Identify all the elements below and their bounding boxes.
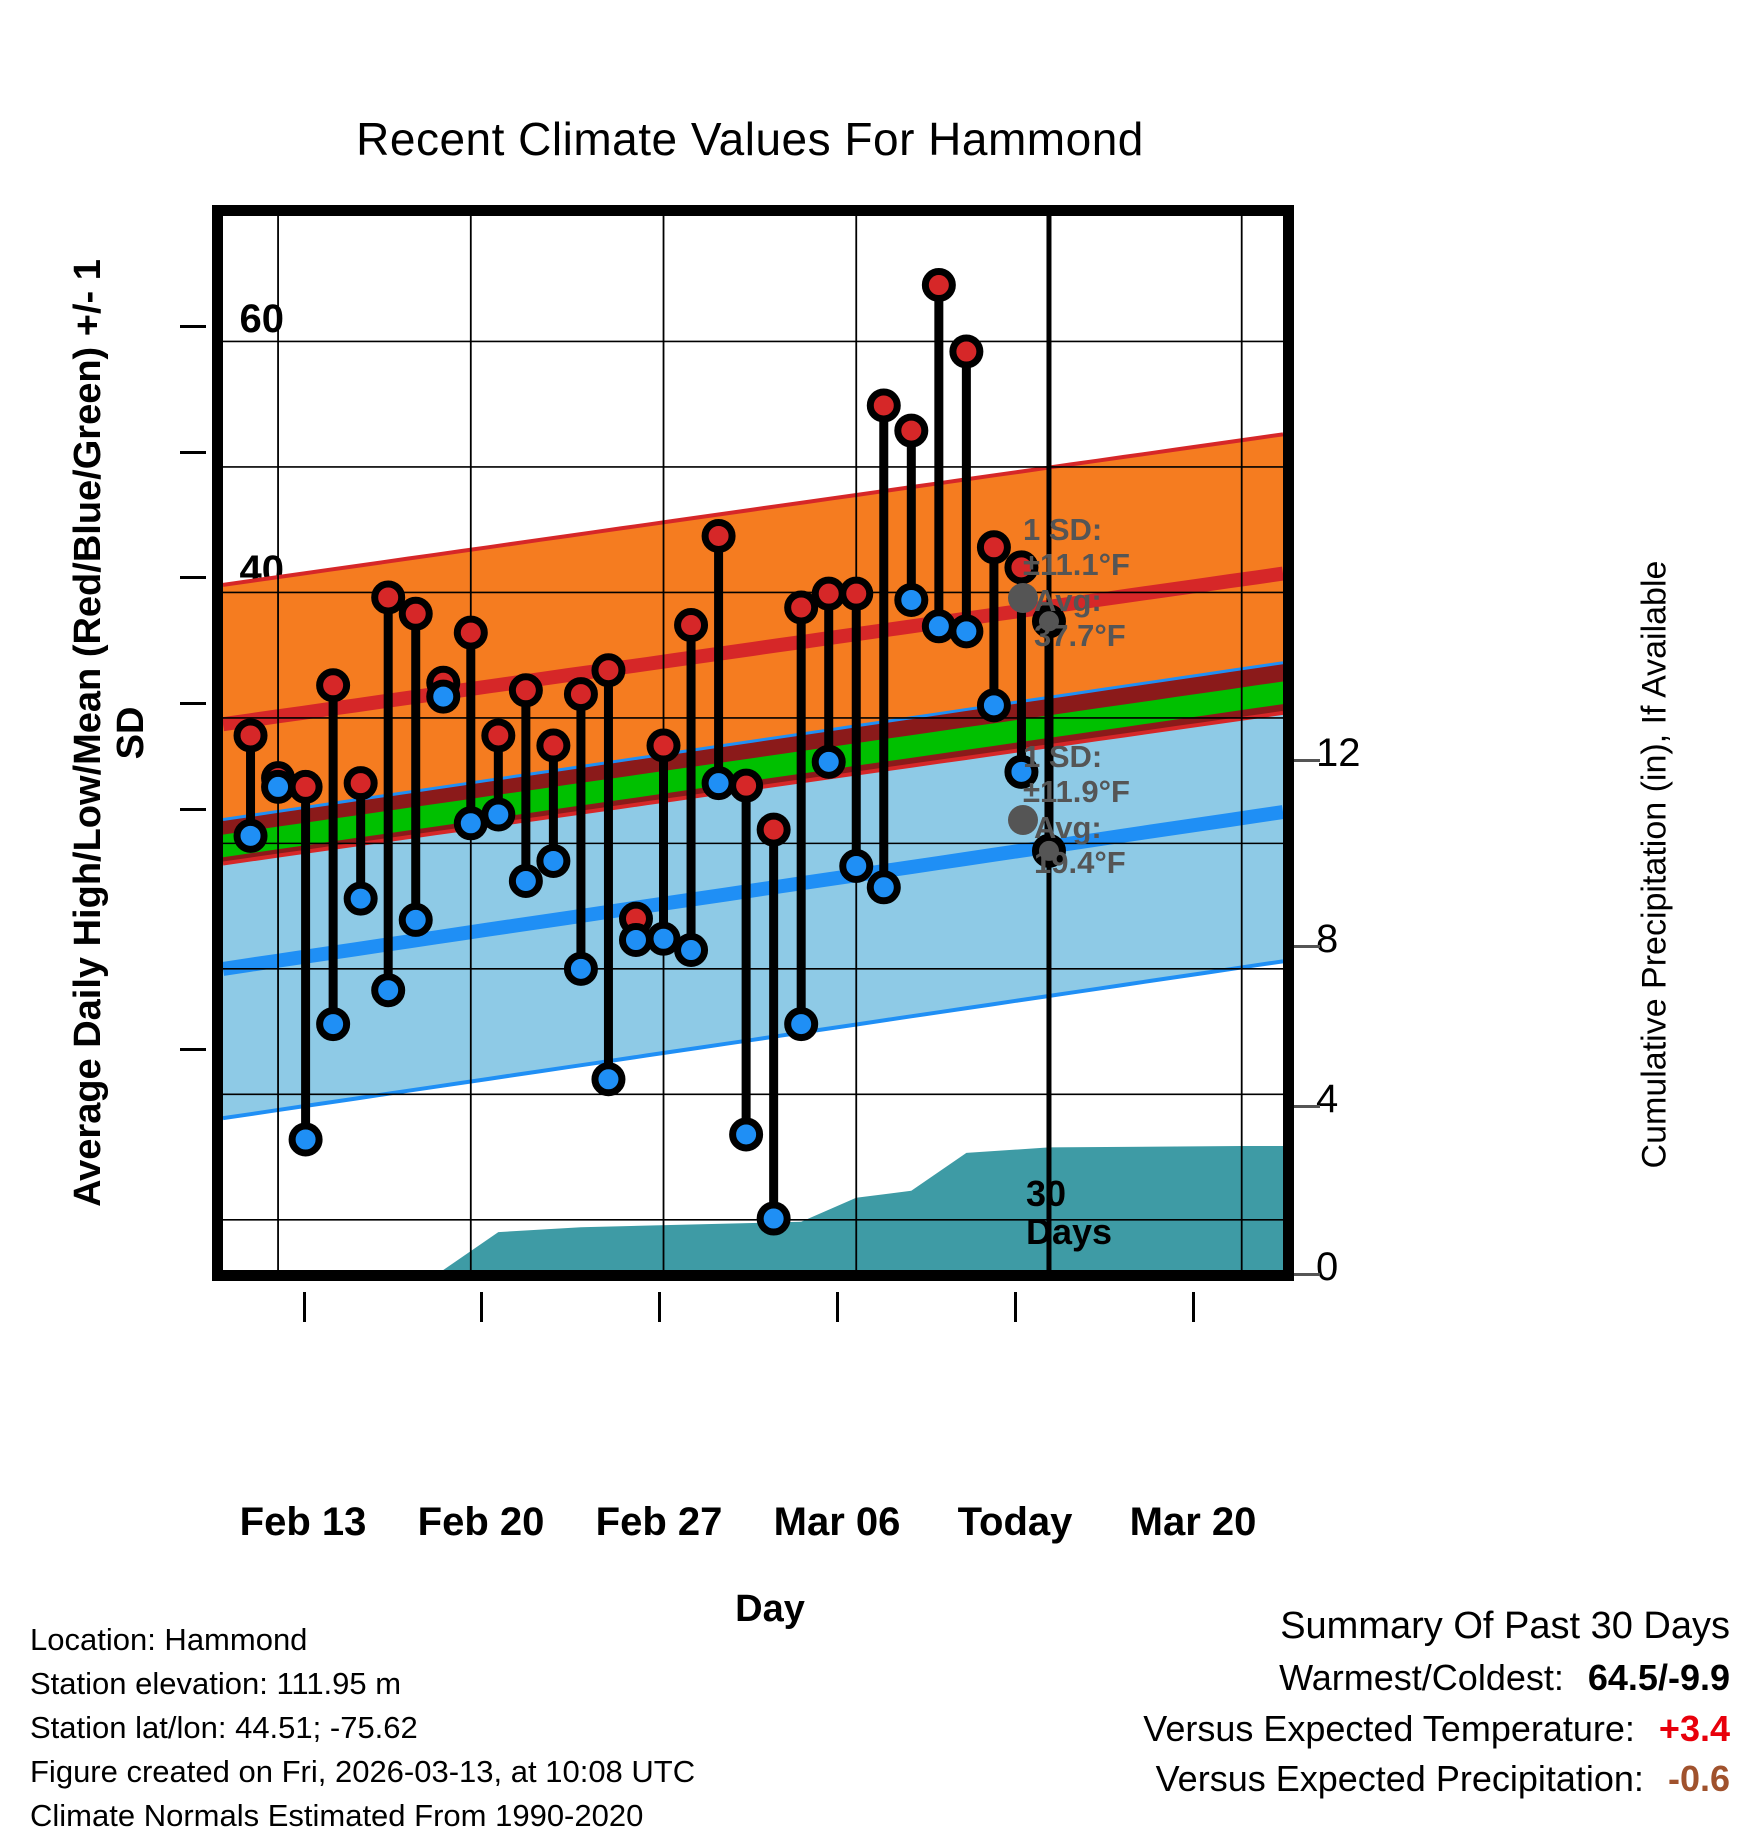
y2-tickmark-12	[1294, 759, 1320, 762]
high-marker	[595, 657, 622, 684]
summary-precip-anomaly: Versus Expected Precipitation: -0.6	[1143, 1754, 1730, 1804]
low-marker	[733, 1121, 760, 1148]
high-marker	[953, 338, 980, 365]
x-tickmark-feb-20	[480, 1292, 483, 1322]
low-marker	[788, 1011, 815, 1038]
summary-temp-anomaly: Versus Expected Temperature: +3.4	[1143, 1704, 1730, 1754]
info-created: Figure created on Fri, 2026-03-13, at 10…	[30, 1750, 695, 1794]
low-marker	[512, 868, 539, 895]
low-marker	[292, 1126, 319, 1153]
x-tick-mar-20: Mar 20	[1063, 1500, 1323, 1545]
low-marker	[815, 748, 842, 775]
low-marker	[237, 822, 264, 849]
y-tickmark-30	[180, 702, 206, 705]
high-marker	[898, 417, 925, 444]
y2-tickmark-4	[1294, 1105, 1320, 1108]
low-sd-value: ±11.9°F	[1023, 775, 1130, 808]
summary-temp-label: Versus Expected Temperature:	[1143, 1708, 1635, 1749]
high-marker	[733, 772, 760, 799]
y-tickmark-50	[180, 451, 206, 454]
high-marker	[375, 584, 402, 611]
low-avg-value: 19.4°F	[1034, 846, 1126, 879]
info-elevation: Station elevation: 111.95 m	[30, 1662, 695, 1706]
chart-svg	[223, 216, 1283, 1270]
x-tickmark-mar-06	[836, 1292, 839, 1322]
low-marker	[320, 1011, 347, 1038]
high-marker	[485, 722, 512, 749]
high-sd-value: ±11.1°F	[1023, 548, 1130, 581]
high-marker	[347, 770, 374, 797]
y2-tickmark-0	[1294, 1273, 1320, 1276]
plot-canvas	[223, 216, 1283, 1270]
low-marker	[347, 885, 374, 912]
precipitation-area	[443, 1146, 1283, 1270]
low-marker	[870, 874, 897, 901]
low-marker	[622, 926, 649, 953]
y2-tick-0: 0	[1316, 1245, 1436, 1290]
high-marker	[788, 594, 815, 621]
low-marker	[678, 937, 705, 964]
high-marker	[815, 580, 842, 607]
high-avg-value: 37.7°F	[1034, 619, 1126, 652]
high-avg-label: Avg:	[1034, 584, 1102, 617]
high-marker	[512, 677, 539, 704]
low-marker	[595, 1066, 622, 1093]
high-marker	[925, 272, 952, 299]
y-tickmark-0	[180, 1048, 206, 1051]
summary-precip-value: -0.6	[1668, 1758, 1730, 1799]
high-marker	[843, 580, 870, 607]
info-location: Location: Hammond	[30, 1618, 695, 1662]
high-marker	[980, 534, 1007, 561]
high-marker	[760, 816, 787, 843]
low-marker	[567, 955, 594, 982]
low-marker	[265, 773, 292, 800]
x-tickmark-today	[1014, 1292, 1017, 1322]
y-tickmark-40	[180, 576, 206, 579]
y-axis-label-left: Average Daily High/Low/Mean (Red/Blue/Gr…	[67, 233, 153, 1233]
high-marker	[678, 612, 705, 639]
summary-warmest-coldest-value: 64.5/-9.9	[1588, 1657, 1730, 1698]
high-marker	[237, 722, 264, 749]
low-marker	[402, 906, 429, 933]
y2-tickmark-8	[1294, 945, 1320, 948]
low-marker	[980, 692, 1007, 719]
low-marker	[705, 770, 732, 797]
low-marker	[760, 1205, 787, 1232]
x-tickmark-mar-20	[1192, 1292, 1195, 1322]
precip-window-label: 30 Days	[1026, 1175, 1112, 1251]
summary-warmest-coldest-label: Warmest/Coldest:	[1279, 1657, 1564, 1698]
low-marker	[898, 586, 925, 613]
page-title: Recent Climate Values For Hammond	[0, 112, 1500, 166]
low-marker	[457, 810, 484, 837]
y2-tick-8: 8	[1316, 917, 1436, 962]
high-marker	[292, 773, 319, 800]
low-marker	[925, 613, 952, 640]
high-marker	[402, 600, 429, 627]
low-marker	[375, 977, 402, 1004]
info-normals: Climate Normals Estimated From 1990-2020	[30, 1794, 695, 1838]
high-sd-label: 1 SD:	[1023, 513, 1102, 546]
low-marker	[953, 618, 980, 645]
y2-tick-12: 12	[1316, 731, 1436, 776]
low-marker	[843, 852, 870, 879]
x-tickmark-feb-13	[303, 1292, 306, 1322]
high-marker	[540, 732, 567, 759]
high-marker	[320, 672, 347, 699]
y-tickmark-60	[180, 325, 206, 328]
high-marker	[870, 392, 897, 419]
low-sd-label: 1 SD:	[1023, 740, 1102, 773]
info-latlon: Station lat/lon: 44.51; -75.62	[30, 1706, 695, 1750]
summary-temp-value: +3.4	[1659, 1708, 1730, 1749]
climate-figure: Recent Climate Values For Hammond Averag…	[0, 0, 1748, 1828]
high-marker	[567, 681, 594, 708]
low-avg-label: Avg:	[1034, 811, 1102, 844]
plot-area	[212, 205, 1294, 1281]
low-marker	[540, 847, 567, 874]
summary-precip-label: Versus Expected Precipitation:	[1156, 1758, 1644, 1799]
high-marker	[457, 619, 484, 646]
low-marker	[485, 801, 512, 828]
summary-title: Summary Of Past 30 Days	[1143, 1600, 1730, 1653]
summary-panel: Summary Of Past 30 Days Warmest/Coldest:…	[1143, 1600, 1730, 1804]
summary-warmest-coldest: Warmest/Coldest: 64.5/-9.9	[1143, 1653, 1730, 1703]
low-marker	[430, 683, 457, 710]
x-tickmark-feb-27	[658, 1292, 661, 1322]
station-info: Location: Hammond Station elevation: 111…	[30, 1618, 695, 1838]
y-axis-label-right: Cumulative Precipitation (in), If Availa…	[1636, 365, 1675, 1365]
low-marker	[650, 925, 677, 952]
high-marker	[650, 732, 677, 759]
y2-tick-4: 4	[1316, 1077, 1436, 1122]
high-marker	[705, 522, 732, 549]
y-tickmark-20	[180, 808, 206, 811]
